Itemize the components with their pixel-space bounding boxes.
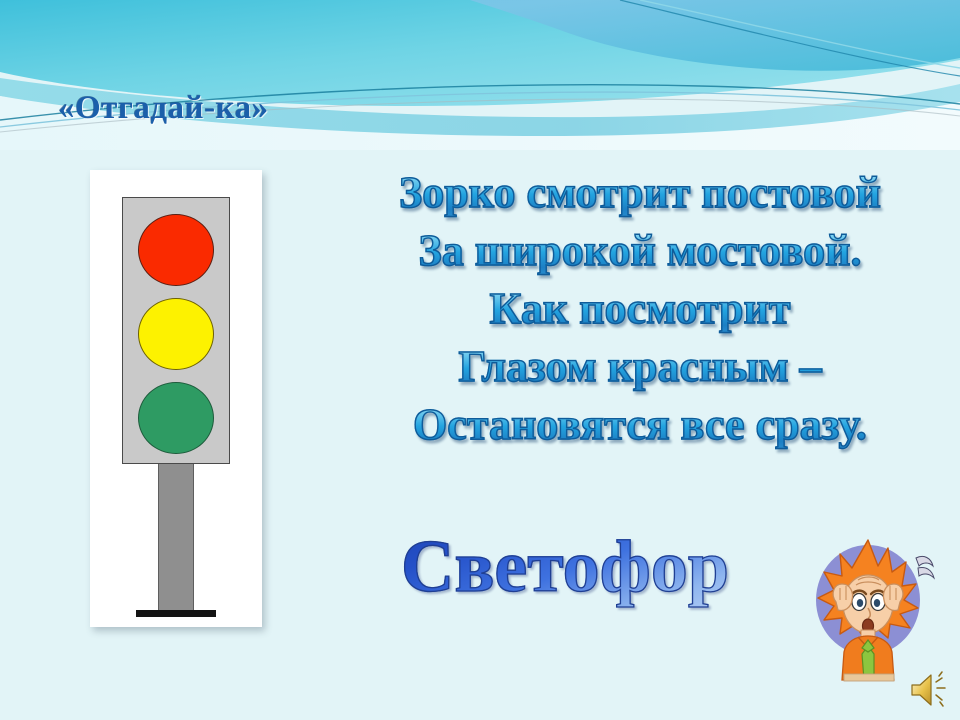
- slide-canvas: «Отгадай-ка» Зорко смотрит постовой За ш…: [0, 0, 960, 720]
- poem-line-5: Остановятся все сразу.: [340, 396, 940, 454]
- answer-wordart: Светофор: [330, 524, 800, 610]
- poem-line-2: За широкой мостовой.: [340, 222, 940, 280]
- poem-line-1: Зорко смотрит постовой: [340, 164, 940, 222]
- header-wave-decoration: [0, 0, 960, 150]
- yellow-lamp-icon: [138, 298, 214, 370]
- traffic-light-housing: [122, 197, 230, 464]
- traffic-light-base: [136, 610, 216, 617]
- red-lamp-icon: [138, 214, 214, 286]
- riddle-poem: Зорко смотрит постовой За широкой мостов…: [340, 164, 940, 454]
- green-lamp-icon: [138, 382, 214, 454]
- page-title: «Отгадай-ка»: [58, 90, 269, 127]
- poem-line-4: Глазом красным –: [340, 338, 940, 396]
- speaker-icon[interactable]: [908, 668, 954, 712]
- poem-line-3: Как посмотрит: [340, 280, 940, 338]
- confused-boy-clipart: [800, 528, 940, 688]
- traffic-light-image: [90, 170, 262, 627]
- traffic-light-pole: [158, 464, 194, 616]
